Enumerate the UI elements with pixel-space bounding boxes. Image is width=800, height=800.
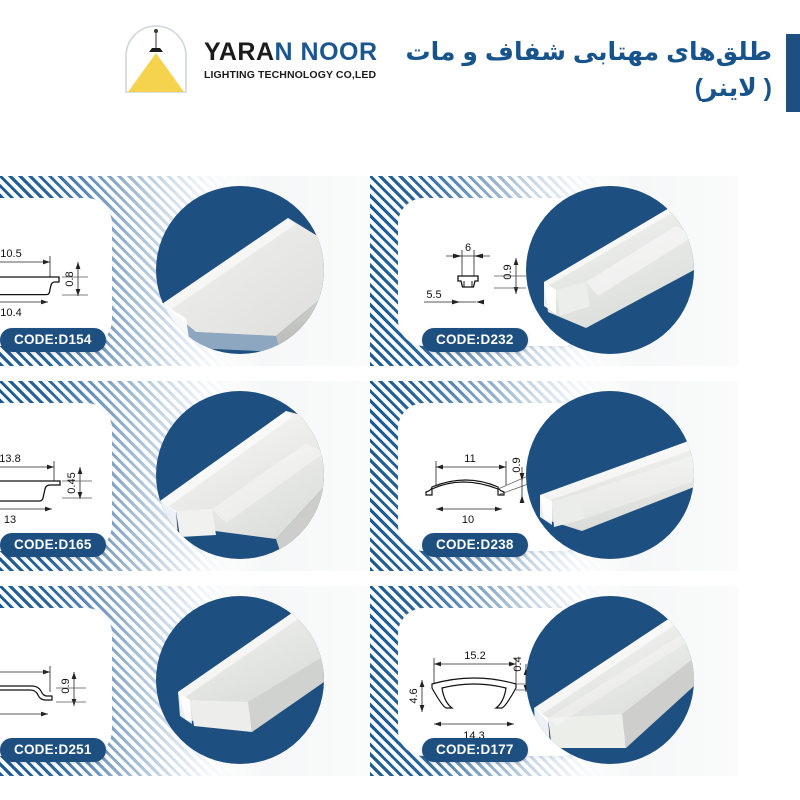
product-grid: 10.5 10.4 0.8 CODE:D154 (0, 176, 800, 776)
product-code-badge[interactable]: CODE:D238 (422, 533, 528, 557)
product-photo[interactable] (156, 596, 324, 764)
brand-name-dark: YARA (204, 38, 275, 66)
dim-height: 0.45 (66, 472, 78, 493)
product-code-badge[interactable]: CODE:D177 (422, 738, 528, 762)
title-accent-bar (786, 34, 800, 112)
dim-top-width: 11 (464, 453, 475, 465)
product-cell-d232[interactable]: 6 5.5 0.9 CODE:D232 (370, 176, 738, 366)
product-code-badge[interactable]: CODE:D251 (0, 738, 106, 762)
dim-height: 0.9 (60, 678, 72, 693)
brand-tagline: LIGHTING TECHNOLOGY CO,LED (204, 69, 378, 81)
product-code-badge[interactable]: CODE:D154 (0, 328, 106, 352)
dim-side-height: 4.6 (408, 688, 420, 703)
product-photo[interactable] (526, 596, 694, 764)
spec-drawing-card: 10.5 10.4 0.8 (0, 198, 112, 346)
spec-drawing-card: 17.6 16.8 0.9 (0, 608, 112, 756)
page-title-text: طلق‌های مهتابی شفاف و مات ( لاینر) (406, 34, 787, 107)
dim-bottom-width: 10 (462, 514, 474, 526)
product-photo[interactable] (526, 186, 694, 354)
brand-name-blue: N NOOR (275, 38, 378, 66)
page-title-line-1: طلق‌های مهتابی شفاف و مات (406, 34, 773, 70)
dim-height: 0.4 (512, 656, 524, 671)
dim-top-width: 10.5 (0, 248, 21, 260)
dim-height: 0.9 (511, 457, 523, 472)
product-cell-d251[interactable]: 17.6 16.8 0.9 CODE:D251 (0, 586, 368, 776)
page-title: طلق‌های مهتابی شفاف و مات ( لاینر) (406, 34, 800, 112)
pendant-lamp-icon (118, 22, 194, 98)
page-title-line-2: ( لاینر) (406, 70, 773, 106)
brand-wordmark: YARAN NOOR LIGHTING TECHNOLOGY CO,LED (204, 40, 378, 81)
product-cell-d238[interactable]: 11 10 0.9 CODE:D238 (370, 381, 738, 571)
product-photo[interactable] (156, 391, 324, 559)
product-photo[interactable] (156, 186, 324, 354)
dim-top-width: 15.2 (464, 650, 485, 662)
dim-height: 0.8 (64, 271, 76, 286)
spec-drawing-card: 13.8 13 0.45 (0, 403, 112, 551)
dim-top-width: 13.8 (0, 453, 21, 465)
page-header: YARAN NOOR LIGHTING TECHNOLOGY CO,LED طل… (0, 0, 800, 160)
product-photo[interactable] (526, 391, 694, 559)
dim-bottom-width: 10.4 (0, 307, 21, 319)
product-cell-d177[interactable]: 15.2 0.4 4.6 14.3 CODE:D177 (370, 586, 738, 776)
dim-bottom-width: 5.5 (426, 289, 441, 301)
dim-bottom-width: 13 (4, 514, 16, 526)
product-code-badge[interactable]: CODE:D232 (422, 328, 528, 352)
brand-logo: YARAN NOOR LIGHTING TECHNOLOGY CO,LED (118, 22, 378, 98)
product-cell-d154[interactable]: 10.5 10.4 0.8 CODE:D154 (0, 176, 368, 366)
product-cell-d165[interactable]: 13.8 13 0.45 CODE:D165 (0, 381, 368, 571)
dim-top-width: 6 (465, 242, 471, 254)
dim-height: 0.9 (502, 264, 514, 279)
product-code-badge[interactable]: CODE:D165 (0, 533, 106, 557)
